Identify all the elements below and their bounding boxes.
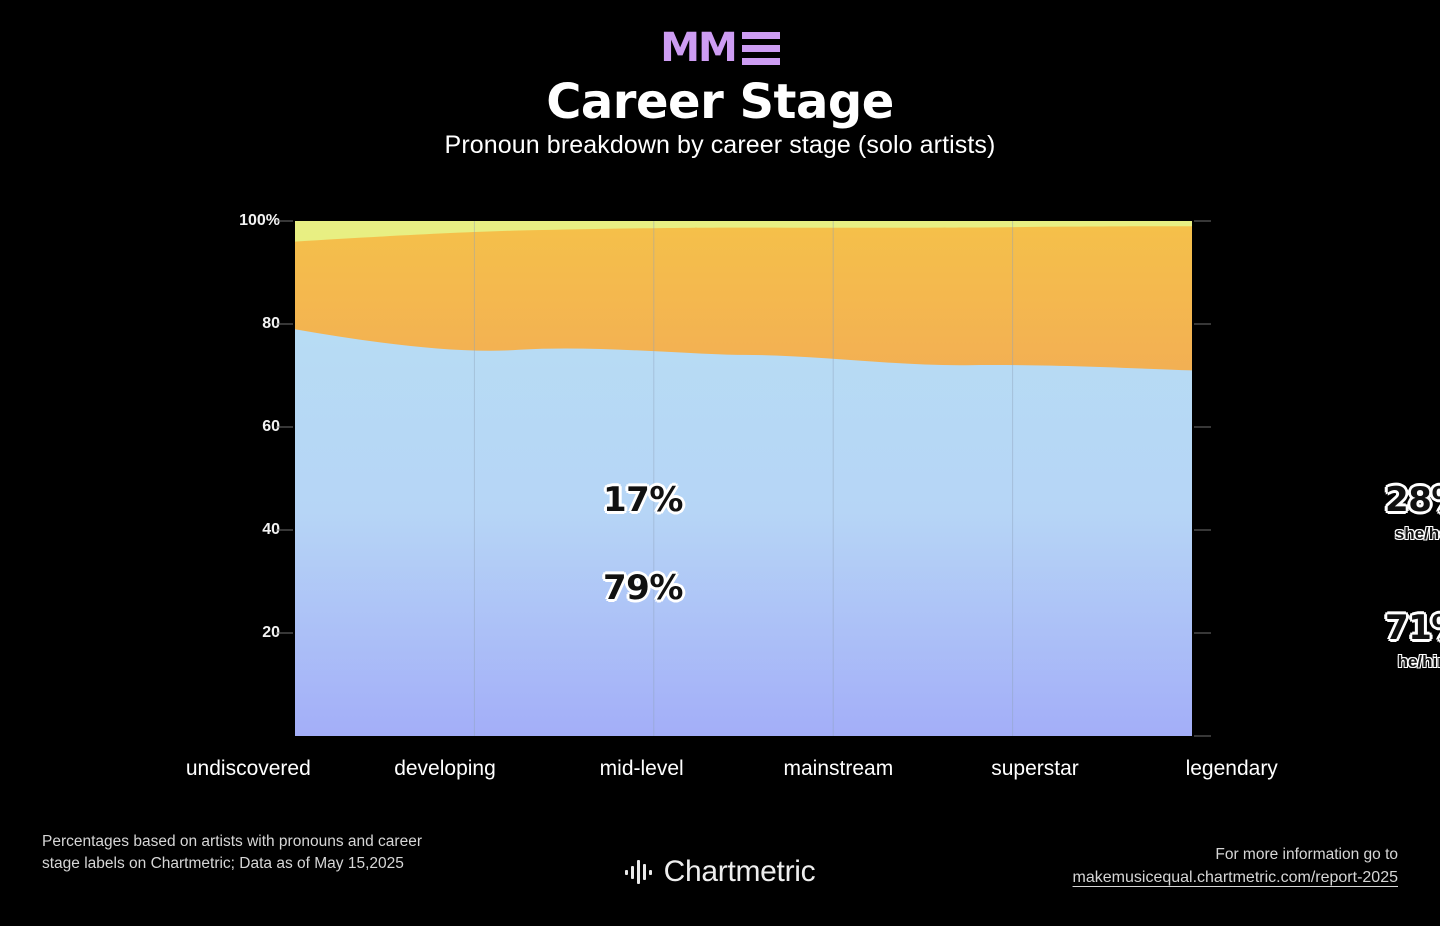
annotation-right-she-her: 28% she/her <box>1363 483 1440 542</box>
annotation-value: 28% <box>1363 483 1440 517</box>
x-tick-label-superstar: superstar <box>937 757 1134 791</box>
x-tick-label-mid-level: mid-level <box>543 757 740 791</box>
more-info: For more information go to makemusicequa… <box>978 843 1398 890</box>
y-tick-mark <box>1194 530 1211 531</box>
page-subtitle: Pronoun breakdown by career stage (solo … <box>0 131 1440 160</box>
x-tick-label-undiscovered: undiscovered <box>150 757 347 791</box>
x-tick-label-developing: developing <box>347 757 544 791</box>
y-tick-mark <box>1194 633 1211 634</box>
y-tick-label: 100% <box>239 212 280 230</box>
y-tick-mark <box>276 221 293 222</box>
chart-series-layer <box>295 221 1192 736</box>
annotation-label: she/her <box>1363 525 1440 542</box>
area-he-him <box>295 329 1192 736</box>
x-tick-label-mainstream: mainstream <box>740 757 937 791</box>
stacked-area-chart: 17% 79% 28% she/her 71% he/him <box>295 221 1192 736</box>
report-url-link[interactable]: makemusicequal.chartmetric.com/report-20… <box>1073 866 1398 890</box>
y-axis-ticks-left <box>276 221 296 736</box>
mme-logo: MM <box>0 30 1440 66</box>
waveform-icon <box>625 857 652 887</box>
mme-logo-text: MM <box>660 28 736 68</box>
y-axis: 100%80604020 <box>210 221 280 736</box>
brand-name: Chartmetric <box>664 855 816 889</box>
y-tick-mark <box>1194 427 1211 428</box>
annotation-right-he-him: 71% he/him <box>1363 611 1440 670</box>
y-tick-mark <box>276 324 293 325</box>
y-tick-mark <box>276 530 293 531</box>
annotation-value: 71% <box>1363 611 1440 645</box>
y-tick-mark <box>1194 736 1211 737</box>
more-info-text: For more information go to <box>1215 846 1398 863</box>
chart-svg <box>295 221 1192 736</box>
page-title: Career Stage <box>0 76 1440 129</box>
y-tick-mark <box>1194 221 1211 222</box>
x-tick-label-legendary: legendary <box>1133 757 1330 791</box>
y-tick-mark <box>276 633 293 634</box>
x-axis: undiscovereddevelopingmid-levelmainstrea… <box>150 757 1330 791</box>
y-tick-mark <box>276 427 293 428</box>
annotation-label: he/him <box>1363 653 1440 670</box>
y-axis-ticks-right <box>1192 221 1212 736</box>
mme-three-bars-icon <box>742 32 780 65</box>
y-tick-mark <box>1194 324 1211 325</box>
